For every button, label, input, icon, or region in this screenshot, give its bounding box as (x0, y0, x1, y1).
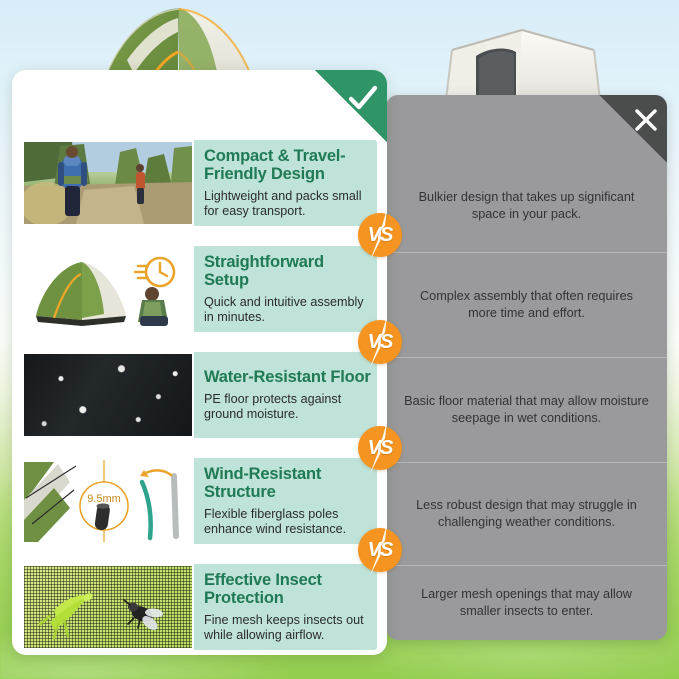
vs-badge-label: VS (358, 426, 402, 470)
feature-title: Straightforward Setup (204, 254, 371, 290)
feature-desc: Quick and intuitive assembly in minutes. (204, 295, 371, 326)
vs-badge-label: VS (358, 528, 402, 572)
feature-title: Effective Insect Protection (204, 572, 371, 608)
pole-diameter-label: 9.5mm (87, 493, 121, 505)
competitor-row-text: Basic floor material that may allow mois… (404, 393, 649, 427)
hiker-with-backpack-thumbnail (22, 140, 194, 226)
product-feature-card: Compact & Travel-Friendly Design Lightwe… (12, 70, 387, 655)
feature-row: Effective Insect Protection Fine mesh ke… (22, 564, 377, 650)
water-beading-on-floor-thumbnail (22, 352, 194, 438)
feature-row: 9.5mm Wind-Resistant Structure Flexible … (22, 458, 377, 544)
feature-row: Compact & Travel-Friendly Design Lightwe… (22, 140, 377, 226)
tent-setup-with-clock-thumbnail (22, 246, 194, 332)
vs-badge-label: VS (358, 213, 402, 257)
close-icon (633, 107, 659, 133)
competitor-row: Bulkier design that takes up significant… (386, 160, 667, 252)
competitor-row: Less robust design that may struggle in … (386, 462, 667, 565)
feature-row: Straightforward Setup Quick and intuitiv… (22, 246, 377, 332)
feature-row: Water-Resistant Floor PE floor protects … (22, 352, 377, 438)
feature-title: Water-Resistant Floor (204, 369, 371, 387)
competitor-row: Larger mesh openings that may allow smal… (386, 565, 667, 640)
competitor-row: Complex assembly that often requires mor… (386, 252, 667, 357)
grasshopper-icon (40, 592, 94, 638)
fly-icon (124, 600, 163, 633)
vs-badge: VS (358, 213, 402, 257)
vs-badge: VS (358, 426, 402, 470)
competitor-row-text: Bulkier design that takes up significant… (404, 189, 649, 223)
competitor-row-text: Larger mesh openings that may allow smal… (404, 586, 649, 620)
vs-badge: VS (358, 320, 402, 364)
fiberglass-pole-diameter-thumbnail: 9.5mm (22, 458, 194, 544)
feature-title: Compact & Travel-Friendly Design (204, 148, 371, 184)
feature-desc: Fine mesh keeps insects out while allowi… (204, 613, 371, 644)
feature-title: Wind-Resistant Structure (204, 466, 371, 502)
check-icon (348, 85, 378, 113)
feature-desc: Flexible fiberglass poles enhance wind r… (204, 507, 371, 538)
feature-desc: PE floor protects against ground moistur… (204, 392, 371, 423)
x-badge-corner (599, 95, 667, 163)
vs-badge-label: VS (358, 320, 402, 364)
feature-desc: Lightweight and packs small for easy tra… (204, 189, 371, 220)
vs-badge: VS (358, 528, 402, 572)
mesh-with-insects-thumbnail (22, 564, 194, 650)
check-badge-corner (315, 70, 387, 142)
competitor-row-text: Less robust design that may struggle in … (404, 497, 649, 531)
competitor-row: Basic floor material that may allow mois… (386, 357, 667, 462)
competitor-row-text: Complex assembly that often requires mor… (404, 288, 649, 322)
